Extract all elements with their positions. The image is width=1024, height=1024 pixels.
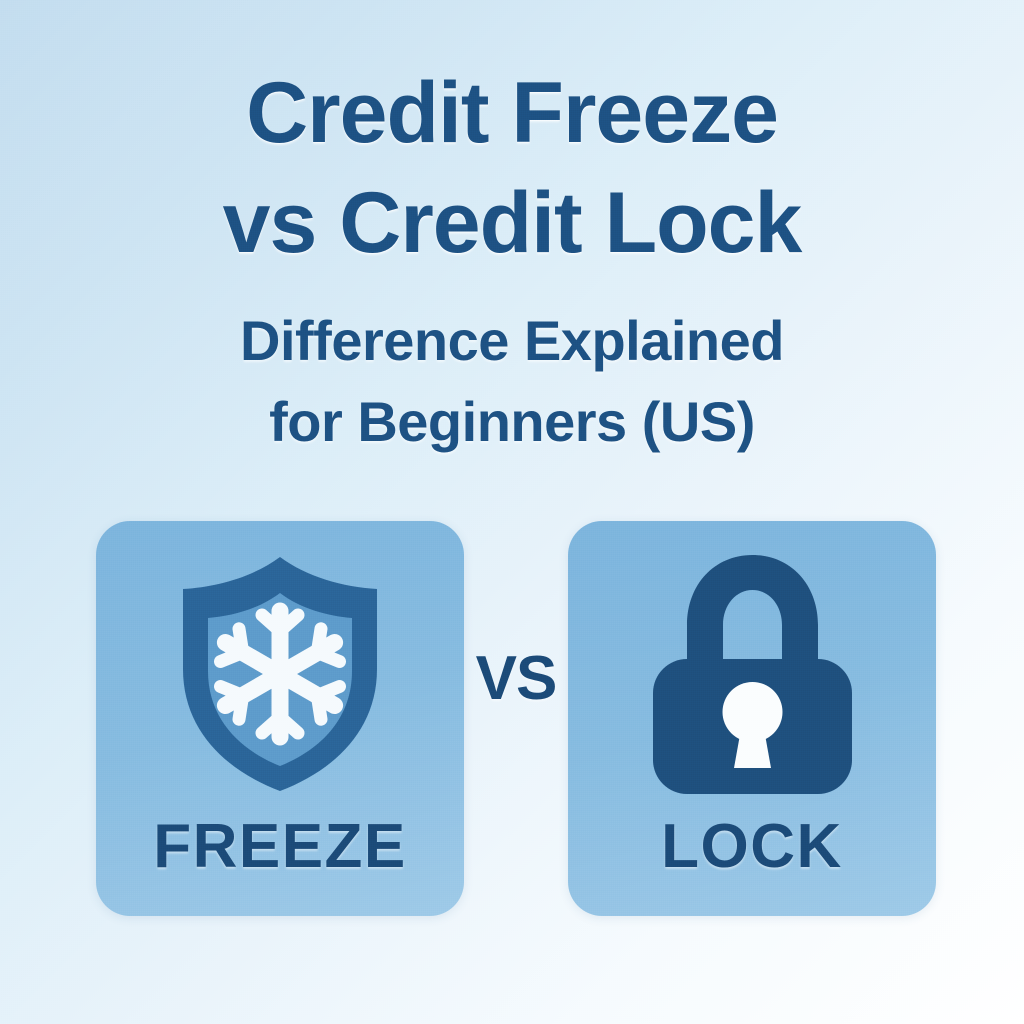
versus-label: VS — [464, 648, 568, 710]
subtitle-group: Difference Explained for Beginners (US) — [0, 300, 1024, 462]
padlock-icon — [645, 549, 860, 799]
title-line-2: vs Credit Lock — [0, 168, 1024, 278]
card-lock-icon-wrap — [568, 539, 936, 809]
title-line-1: Credit Freeze — [0, 58, 1024, 168]
subtitle-line-1: Difference Explained — [0, 300, 1024, 381]
shield-snowflake-icon — [165, 549, 395, 799]
poster-canvas: Credit Freeze vs Credit Lock Difference … — [0, 0, 1024, 1024]
card-lock-label: LOCK — [568, 816, 936, 878]
card-freeze-label: FREEZE — [96, 816, 464, 878]
headline-group: Credit Freeze vs Credit Lock — [0, 58, 1024, 278]
subtitle-line-2: for Beginners (US) — [0, 381, 1024, 462]
card-freeze-icon-wrap — [96, 539, 464, 809]
card-freeze[interactable]: FREEZE — [96, 521, 464, 916]
card-lock[interactable]: LOCK — [568, 521, 936, 916]
